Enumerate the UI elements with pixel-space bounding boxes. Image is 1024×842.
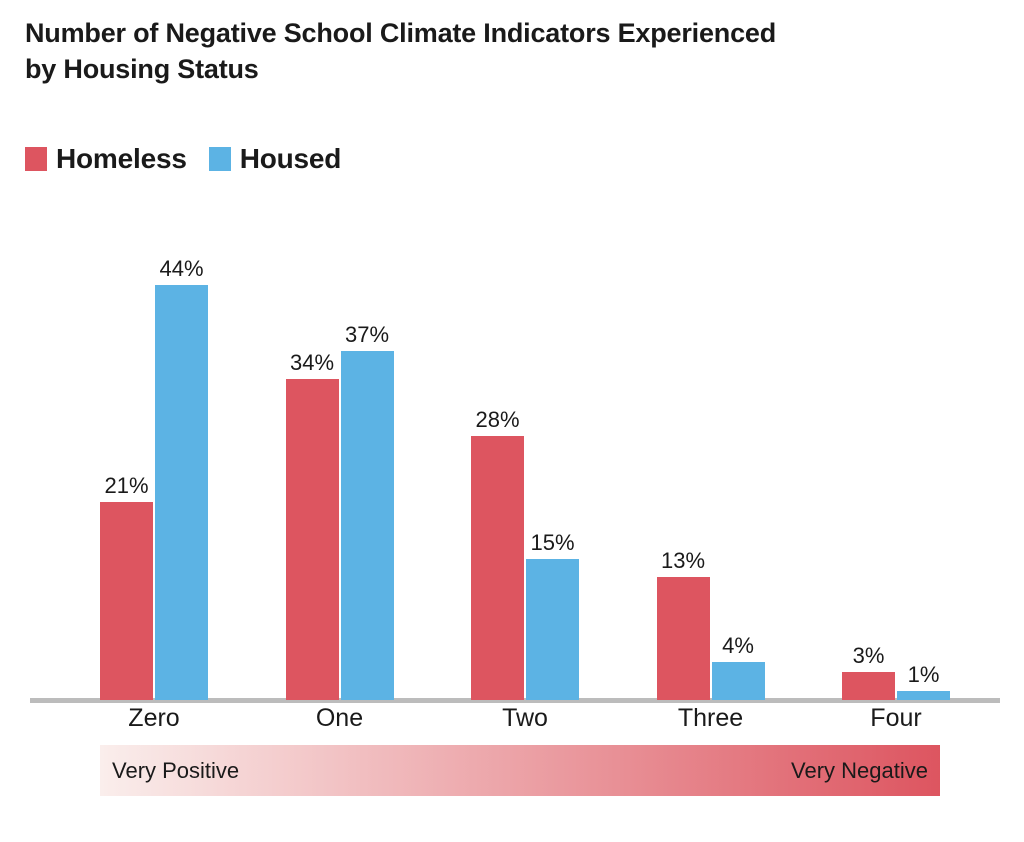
bar-value-label: 1% — [908, 664, 940, 686]
bar-value-label: 13% — [661, 550, 705, 572]
x-axis-tick-label-zero: Zero — [74, 706, 234, 731]
bar-chart-plot: 21%44%34%37%28%15%13%4%3%1% ZeroOneTwoTh… — [0, 0, 1024, 842]
bar-group-two: 28%15% — [471, 140, 581, 700]
bar-value-label: 37% — [345, 324, 389, 346]
bar-value-label: 4% — [722, 635, 754, 657]
bar-housed-one[interactable]: 37% — [341, 351, 394, 700]
bar-value-label: 21% — [104, 475, 148, 497]
bar-homeless-three[interactable]: 13% — [657, 577, 710, 700]
bar-value-label: 3% — [853, 645, 885, 667]
bar-housed-four[interactable]: 1% — [897, 691, 950, 700]
bar-housed-zero[interactable]: 44% — [155, 285, 208, 700]
bar-value-label: 34% — [290, 352, 334, 374]
scale-label-very-negative: Very Negative — [791, 760, 928, 782]
bar-value-label: 15% — [530, 532, 574, 554]
x-axis-tick-label-three: Three — [631, 706, 791, 731]
x-axis-tick-label-one: One — [260, 706, 420, 731]
bar-homeless-zero[interactable]: 21% — [100, 502, 153, 700]
x-axis-tick-label-four: Four — [816, 706, 976, 731]
bar-group-one: 34%37% — [286, 140, 396, 700]
bar-homeless-one[interactable]: 34% — [286, 379, 339, 700]
bar-homeless-four[interactable]: 3% — [842, 672, 895, 700]
bar-value-label: 28% — [475, 409, 519, 431]
bar-group-zero: 21%44% — [100, 140, 210, 700]
scale-label-very-positive: Very Positive — [112, 760, 239, 782]
bar-group-four: 3%1% — [842, 140, 952, 700]
bar-housed-three[interactable]: 4% — [712, 662, 765, 700]
x-axis-tick-label-two: Two — [445, 706, 605, 731]
bar-homeless-two[interactable]: 28% — [471, 436, 524, 700]
bar-value-label: 44% — [159, 258, 203, 280]
bar-housed-two[interactable]: 15% — [526, 559, 579, 700]
climate-scale-bar: Very Positive Very Negative — [100, 745, 940, 796]
bar-group-three: 13%4% — [657, 140, 767, 700]
